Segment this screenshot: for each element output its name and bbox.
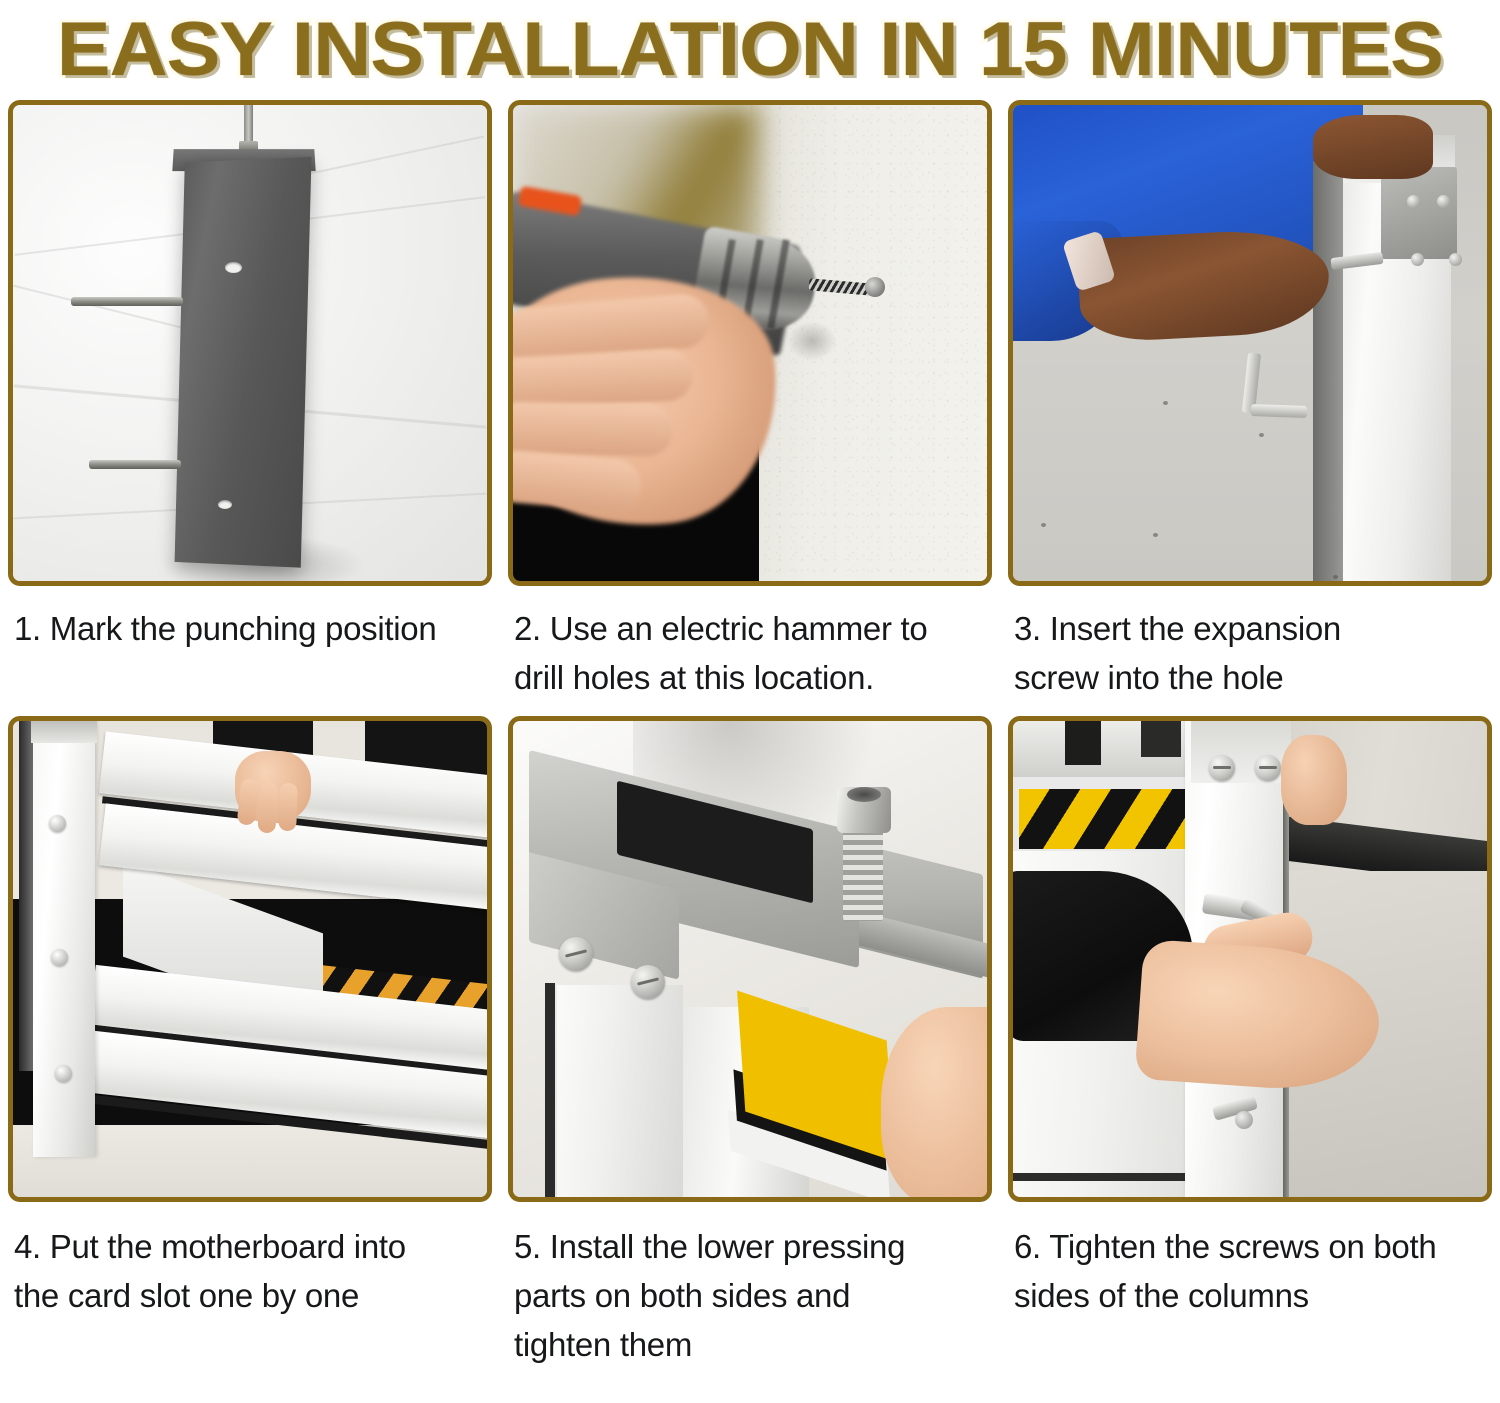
hand (1281, 735, 1347, 825)
step-photo-frame-4 (8, 716, 492, 1202)
mounting-plate (1381, 167, 1457, 259)
step-card-3: 3. Insert the expansion screw into the h… (1008, 100, 1492, 702)
column-screw (1209, 755, 1235, 781)
board-dark-slot (1065, 721, 1101, 765)
finger (513, 348, 694, 410)
bolt-socket-hole (847, 787, 881, 802)
floor-speck (1153, 533, 1158, 537)
step-photo-6 (1013, 721, 1487, 1197)
steps-grid-row-2: 4. Put the motherboard into the card slo… (0, 716, 1500, 1369)
step-photo-3 (1013, 105, 1487, 581)
step-photo-1 (13, 105, 487, 581)
panel-dark-edge (545, 983, 555, 1197)
mounting-hole (225, 262, 242, 273)
step-photo-frame-1 (8, 100, 492, 586)
column-rivet (55, 1065, 72, 1082)
finger (257, 782, 278, 833)
expansion-screw (1449, 253, 1462, 266)
page-title: EASY INSTALLATION IN 15 MINUTES (57, 10, 1443, 90)
step-caption-5: 5. Install the lower pressing parts on b… (508, 1202, 992, 1369)
step-caption-4: 4. Put the motherboard into the card slo… (8, 1202, 492, 1320)
step-card-5: 5. Install the lower pressing parts on b… (508, 716, 992, 1369)
step-photo-2 (513, 105, 987, 581)
column-base-plate (175, 157, 312, 568)
expansion-screw (1437, 195, 1450, 208)
expansion-screw (1411, 253, 1424, 266)
wall-surface (750, 105, 987, 581)
anchor-bolt (89, 460, 181, 469)
column-cap (31, 721, 97, 743)
panel-seam (1013, 1173, 1193, 1181)
step-caption-1: 1. Mark the punching position (8, 586, 492, 653)
expansion-screw (1407, 195, 1420, 208)
step-card-2: 2. Use an electric hammer to drill holes… (508, 100, 992, 702)
finger (513, 401, 673, 456)
phillips-screw (559, 937, 593, 971)
step-photo-frame-2 (508, 100, 992, 586)
step-photo-frame-3 (1008, 100, 1492, 586)
step-photo-4 (13, 721, 487, 1197)
column-screw (1255, 755, 1281, 781)
step-caption-3: 3. Insert the expansion screw into the h… (1008, 586, 1492, 702)
knurled-bolt-shaft (843, 825, 883, 921)
floor-speck (1163, 401, 1168, 405)
step-card-6: 6. Tighten the screws on both sides of t… (1008, 716, 1492, 1369)
step-caption-2: 2. Use an electric hammer to drill holes… (508, 586, 992, 702)
hazard-stripe-tape (1019, 789, 1199, 849)
finger (278, 783, 298, 832)
anchor-bolt (71, 297, 183, 306)
column-shadow-edge (1313, 161, 1345, 581)
drill-bit-tip (865, 277, 885, 297)
white-column (33, 721, 95, 1157)
allen-key-short-arm (1251, 404, 1307, 418)
steps-grid-row-1: 1. Mark the punching position (0, 100, 1500, 702)
drill-dust (787, 321, 837, 361)
step-photo-frame-5 (508, 716, 992, 1202)
board-dark-slot (1141, 721, 1181, 757)
column-rivet (51, 949, 68, 966)
step-photo-5 (513, 721, 987, 1197)
floor-speck (1259, 433, 1264, 437)
floor-speck (1333, 575, 1338, 579)
lower-screw-head (1235, 1111, 1253, 1129)
column-rivet (49, 815, 66, 832)
mounting-hole (218, 500, 232, 509)
header-banner: EASY INSTALLATION IN 15 MINUTES (0, 0, 1500, 100)
step-card-1: 1. Mark the punching position (8, 100, 492, 702)
floor-speck (1041, 523, 1046, 527)
step-caption-6: 6. Tighten the screws on both sides of t… (1008, 1202, 1492, 1320)
hand (1313, 115, 1433, 179)
step-photo-frame-6 (1008, 716, 1492, 1202)
phillips-screw (631, 965, 665, 999)
step-card-4: 4. Put the motherboard into the card slo… (8, 716, 492, 1369)
barrier-panel (557, 985, 683, 1197)
